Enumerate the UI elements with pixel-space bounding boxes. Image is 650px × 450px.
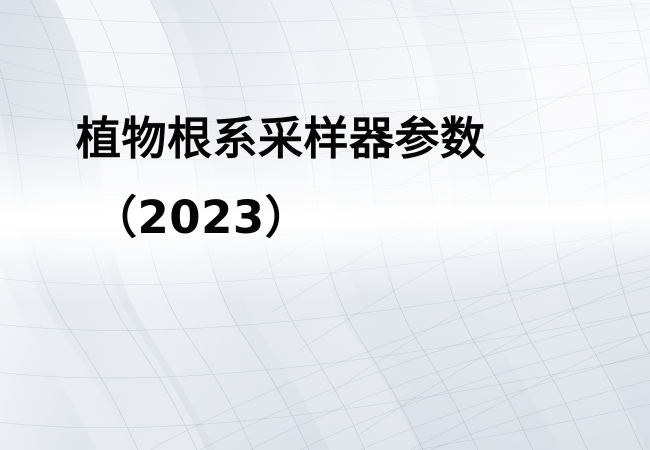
slide-canvas: 植物根系采样器参数 （2023）	[0, 0, 650, 450]
slide-title-block: 植物根系采样器参数 （2023）	[0, 112, 650, 246]
slide-title-year: （2023）	[34, 191, 616, 246]
slide-title-main: 植物根系采样器参数	[34, 112, 616, 167]
